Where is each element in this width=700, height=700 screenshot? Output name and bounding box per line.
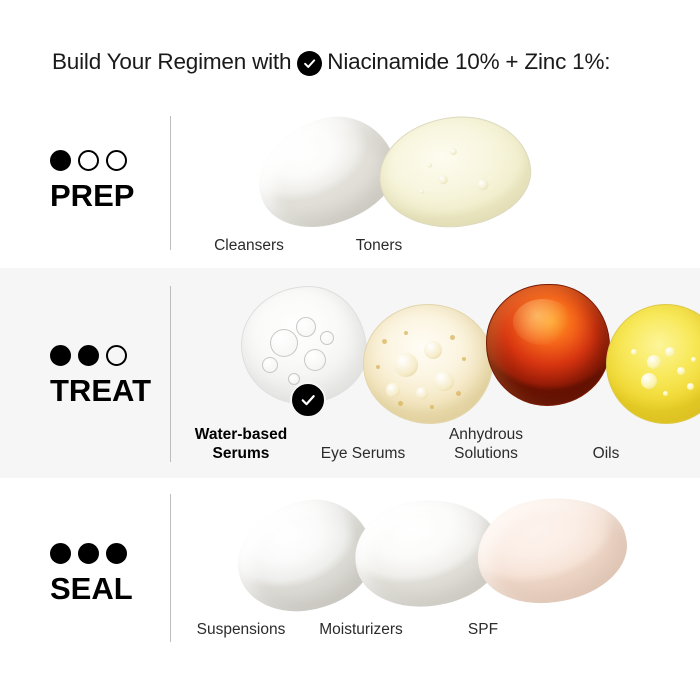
product-item-spf[interactable]: SPF [420,490,546,640]
step-marker-treat: TREAT [50,345,160,406]
product-label-eye-serums: Eye Serums [321,445,405,464]
product-label-toners: Toners [356,237,403,256]
step-progress-dots-treat [50,345,160,366]
divider-seal [170,494,171,642]
check-circle-icon [290,382,326,418]
step-progress-dots-prep [50,150,160,171]
divider-treat [170,286,171,462]
product-row-seal: Suspensions Moisturizers SPF [178,490,546,640]
progress-dot [106,543,127,564]
product-label-spf: SPF [468,621,498,640]
step-marker-seal: SEAL [50,543,160,604]
step-progress-dots-seal [50,543,160,564]
progress-dot [106,345,127,366]
product-label-moisturizers: Moisturizers [319,621,403,640]
progress-dot [50,345,71,366]
progress-dot [78,345,99,366]
product-row-prep: Cleansers Toners [178,112,454,256]
product-label-anhydrous-solutions: Anhydrous Solutions [449,426,523,464]
progress-dot [50,150,71,171]
product-item-suspensions[interactable]: Suspensions [178,490,304,640]
step-name-treat: TREAT [50,375,160,406]
product-item-moisturizers[interactable]: Moisturizers [298,490,424,640]
step-name-prep: PREP [50,180,160,211]
product-item-anhydrous-solutions[interactable]: Anhydrous Solutions [424,282,548,464]
step-name-seal: SEAL [50,573,160,604]
progress-dot [78,543,99,564]
product-item-cleansers[interactable]: Cleansers [178,112,320,256]
selected-badge-water-based-serums [292,384,326,418]
product-item-water-based-serums[interactable]: Water-based Serums [178,282,304,464]
page-title: Build Your Regimen with Niacinamide 10% … [52,44,610,80]
product-item-oils[interactable]: Oils [546,301,666,464]
check-circle-icon [297,51,322,76]
product-row-treat: Water-based Serums Eye Serums [178,282,666,464]
page-title-text-before: Build Your Regimen with [52,51,291,74]
step-marker-prep: PREP [50,150,160,211]
page-title-text-after: Niacinamide 10% + Zinc 1%: [327,51,610,74]
product-label-suspensions: Suspensions [197,621,286,640]
product-label-water-based-serums: Water-based Serums [195,426,287,464]
product-item-toners[interactable]: Toners [304,112,454,256]
progress-dot [78,150,99,171]
product-label-cleansers: Cleansers [214,237,284,256]
progress-dot [50,543,71,564]
divider-prep [170,116,171,250]
progress-dot [106,150,127,171]
product-item-eye-serums[interactable]: Eye Serums [298,301,428,464]
product-label-oils: Oils [593,445,620,464]
